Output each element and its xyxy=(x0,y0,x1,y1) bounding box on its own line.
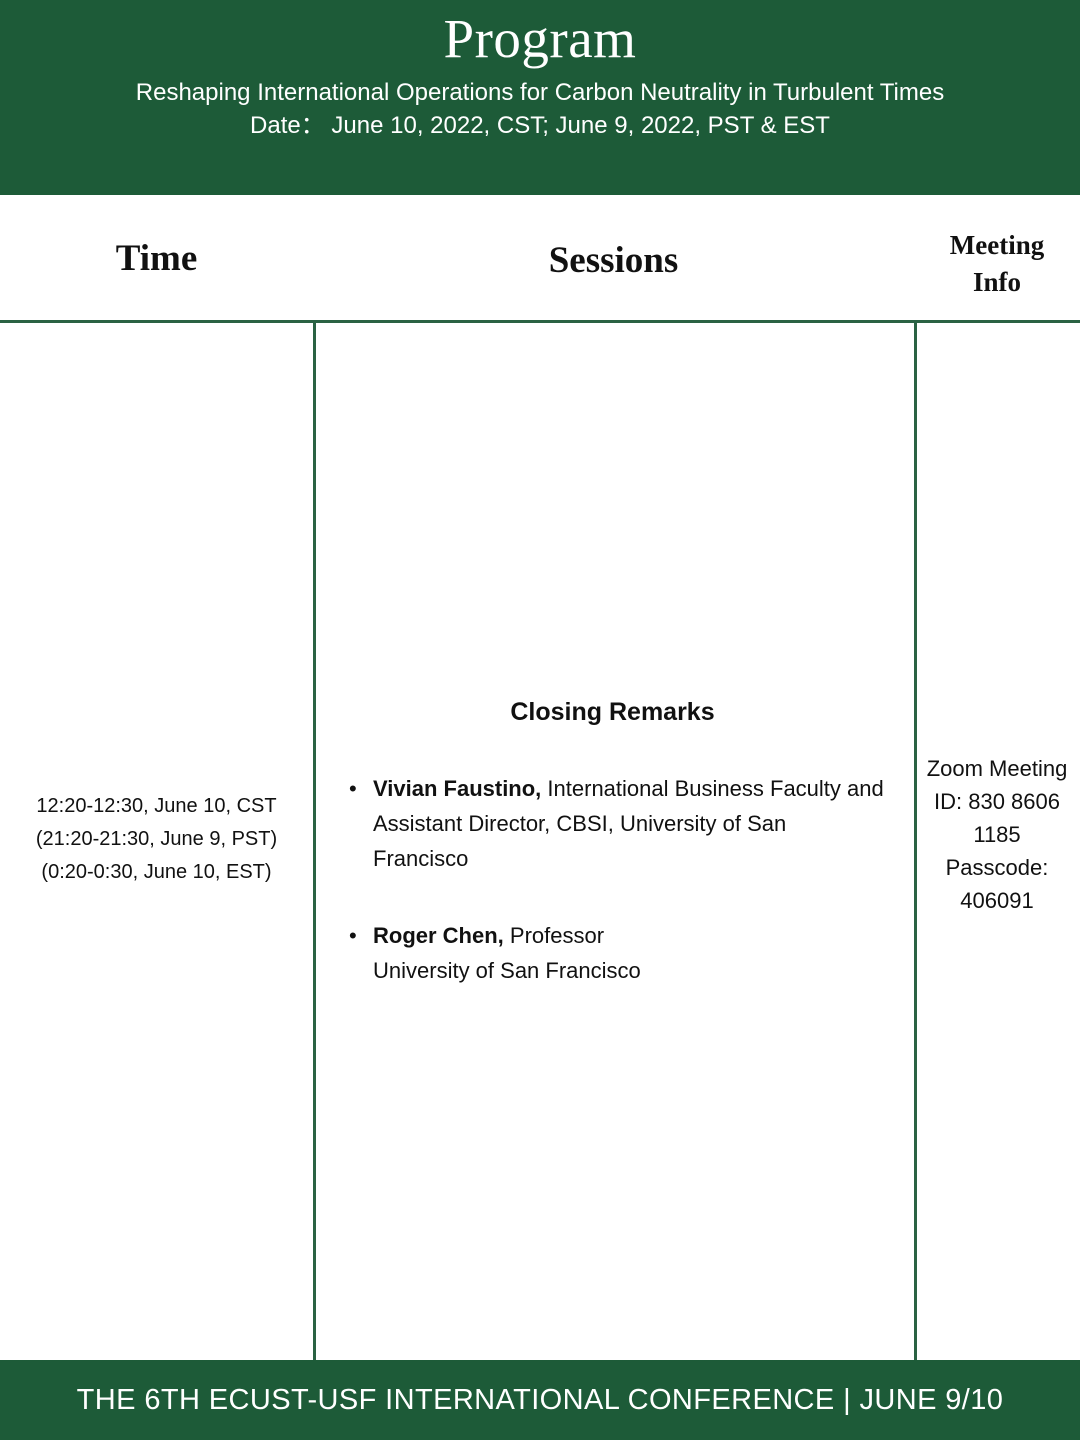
table-column-headers: Time Sessions Meeting Info xyxy=(0,195,1080,320)
speaker-affiliation: University of San Francisco xyxy=(373,953,884,988)
zoom-meeting-id-line2: 1185 xyxy=(918,818,1076,851)
zoom-meeting-label: Zoom Meeting xyxy=(918,752,1076,785)
zoom-passcode-label: Passcode: xyxy=(918,851,1076,884)
speaker-role: Professor xyxy=(504,923,604,948)
speaker-name: Vivian Faustino, xyxy=(373,776,541,801)
time-line-cst: 12:20-12:30, June 10, CST xyxy=(0,790,313,823)
column-header-time: Time xyxy=(0,237,313,281)
table-cell-time: 12:20-12:30, June 10, CST (21:20-21:30, … xyxy=(0,790,313,889)
speaker-list: •Vivian Faustino, International Business… xyxy=(341,771,884,988)
table-header-divider xyxy=(0,320,1080,323)
bullet-icon: • xyxy=(349,771,357,806)
table-cell-sessions: Closing Remarks •Vivian Faustino, Intern… xyxy=(313,695,914,988)
bullet-icon: • xyxy=(349,918,357,953)
footer-text: THE 6TH ECUST-USF INTERNATIONAL CONFEREN… xyxy=(77,1383,1004,1417)
table-cell-meeting-info: Zoom Meeting ID: 830 8606 1185 Passcode:… xyxy=(914,752,1080,917)
list-item: •Roger Chen, ProfessorUniversity of San … xyxy=(341,918,884,988)
page-title: Program xyxy=(0,8,1080,70)
column-header-sessions: Sessions xyxy=(313,239,914,283)
session-title: Closing Remarks xyxy=(341,695,884,729)
time-line-est: (0:20-0:30, June 10, EST) xyxy=(0,856,313,889)
column-header-meeting-info-line2: Info xyxy=(914,264,1080,301)
zoom-passcode-value: 406091 xyxy=(918,884,1076,917)
zoom-meeting-id-line1: ID: 830 8606 xyxy=(918,785,1076,818)
column-header-meeting-info-line1: Meeting xyxy=(914,227,1080,264)
column-header-meeting-info: Meeting Info xyxy=(914,227,1080,301)
list-item: •Vivian Faustino, International Business… xyxy=(341,771,884,876)
conference-date: Date： June 10, 2022, CST; June 9, 2022, … xyxy=(0,109,1080,142)
footer-banner: THE 6TH ECUST-USF INTERNATIONAL CONFEREN… xyxy=(0,1360,1080,1440)
conference-subtitle: Reshaping International Operations for C… xyxy=(0,76,1080,109)
time-line-pst: (21:20-21:30, June 9, PST) xyxy=(0,823,313,856)
header-banner: Program Reshaping International Operatio… xyxy=(0,0,1080,195)
speaker-name: Roger Chen, xyxy=(373,923,504,948)
